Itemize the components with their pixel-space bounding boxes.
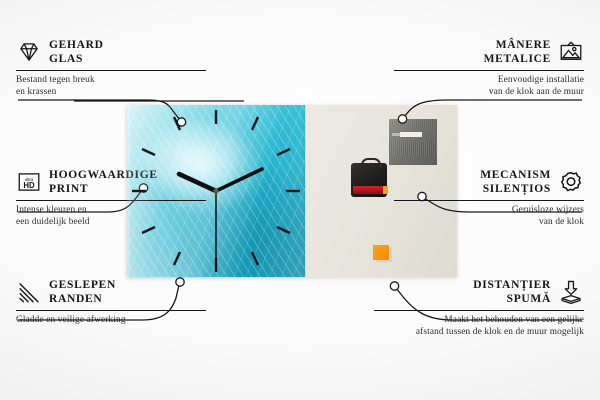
clock-front-face bbox=[127, 105, 305, 277]
feature-desc-line2: afstand tussen de klok en de muur mogeli… bbox=[374, 326, 584, 338]
feature-callout-geslepen-randen: GESLEPEN RANDEN Gladde en veilige afwerk… bbox=[16, 278, 206, 326]
feature-title-line2: RANDEN bbox=[49, 292, 116, 306]
infographic-stage: GEHARD GLAS Bestand tegen breuk en krass… bbox=[0, 0, 600, 400]
feature-divider bbox=[16, 310, 206, 311]
feature-head: MÂNERE METALICE bbox=[394, 38, 584, 67]
feature-title-line2: SPUMĂ bbox=[473, 292, 551, 306]
feature-desc-line1: Bestand tegen breuk bbox=[16, 74, 206, 86]
feature-desc-line2: van de klok aan de muur bbox=[394, 86, 584, 98]
hanger-slot bbox=[400, 132, 422, 137]
diamond-icon bbox=[16, 39, 42, 65]
ultra-hd-icon-bottom-label: HD bbox=[23, 181, 35, 190]
metal-hanger-plate bbox=[389, 119, 437, 165]
foam-spacer-chip bbox=[373, 245, 389, 260]
feature-divider bbox=[374, 310, 584, 311]
gear-icon bbox=[558, 169, 584, 195]
feature-desc-line2: en krassen bbox=[16, 86, 206, 98]
feature-description: Geruisloze wijzers van de klok bbox=[394, 204, 584, 229]
feature-desc-line1: Gladde en veilige afwerking bbox=[16, 314, 206, 326]
feature-title-line1: GEHARD bbox=[49, 38, 104, 52]
feature-title-line1: MECANISM bbox=[480, 168, 551, 182]
feature-desc-line2: van de klok bbox=[394, 216, 584, 228]
feature-title-line1: GESLEPEN bbox=[49, 278, 116, 292]
clock-center-cap bbox=[213, 188, 218, 193]
feature-divider bbox=[394, 70, 584, 71]
feature-callout-distantier-spuma: DISTANȚIER SPUMĂ Maakt het behouden van … bbox=[374, 278, 584, 338]
battery-terminal bbox=[383, 186, 388, 194]
feature-title-line2: SILENȚIOS bbox=[480, 182, 551, 196]
feature-title: DISTANȚIER SPUMĂ bbox=[473, 278, 551, 307]
feature-title-line2: GLAS bbox=[49, 52, 104, 66]
feature-title-line1: MÂNERE bbox=[484, 38, 551, 52]
clock-minute-hand bbox=[216, 169, 262, 191]
feature-description: Gladde en veilige afwerking bbox=[16, 314, 206, 326]
feature-description: Bestand tegen breuk en krassen bbox=[16, 74, 206, 99]
feature-title: GESLEPEN RANDEN bbox=[49, 278, 116, 307]
feature-callout-mecanism-silentios: MECANISM SILENȚIOS Geruisloze wijzers va… bbox=[394, 168, 584, 228]
clock-hour-hand bbox=[179, 174, 216, 191]
feature-callout-gehard-glas: GEHARD GLAS Bestand tegen breuk en krass… bbox=[16, 38, 206, 98]
ultra-hd-icon: ultra HD bbox=[16, 169, 42, 195]
feature-desc-line1: Geruisloze wijzers bbox=[394, 204, 584, 216]
picture-frame-icon bbox=[558, 39, 584, 65]
feature-head: GEHARD GLAS bbox=[16, 38, 206, 67]
feature-divider bbox=[394, 200, 584, 201]
quartz-movement bbox=[351, 163, 387, 197]
foam-spacer-icon bbox=[558, 279, 584, 305]
feature-title-line2: METALICE bbox=[484, 52, 551, 66]
feature-title: GEHARD GLAS bbox=[49, 38, 104, 67]
feature-title-line1: DISTANȚIER bbox=[473, 278, 551, 292]
hanger-loop bbox=[361, 158, 381, 168]
feature-divider bbox=[16, 70, 206, 71]
feature-desc-line1: Maakt het behouden van een gelijke bbox=[374, 314, 584, 326]
feature-desc-line1: Eenvoudige installatie bbox=[394, 74, 584, 86]
clock-dial bbox=[127, 105, 305, 277]
feature-description: Eenvoudige installatie van de klok aan d… bbox=[394, 74, 584, 99]
beveled-edge-icon bbox=[16, 279, 42, 305]
feature-title: MÂNERE METALICE bbox=[484, 38, 551, 67]
feature-description: Maakt het behouden van een gelijke afsta… bbox=[374, 314, 584, 339]
feature-head: GESLEPEN RANDEN bbox=[16, 278, 206, 307]
feature-head: DISTANȚIER SPUMĂ bbox=[374, 278, 584, 307]
battery bbox=[353, 186, 383, 194]
feature-title: MECANISM SILENȚIOS bbox=[480, 168, 551, 197]
feature-callout-manere-metalice: MÂNERE METALICE Eenvoudige installatie v… bbox=[394, 38, 584, 98]
feature-head: MECANISM SILENȚIOS bbox=[394, 168, 584, 197]
